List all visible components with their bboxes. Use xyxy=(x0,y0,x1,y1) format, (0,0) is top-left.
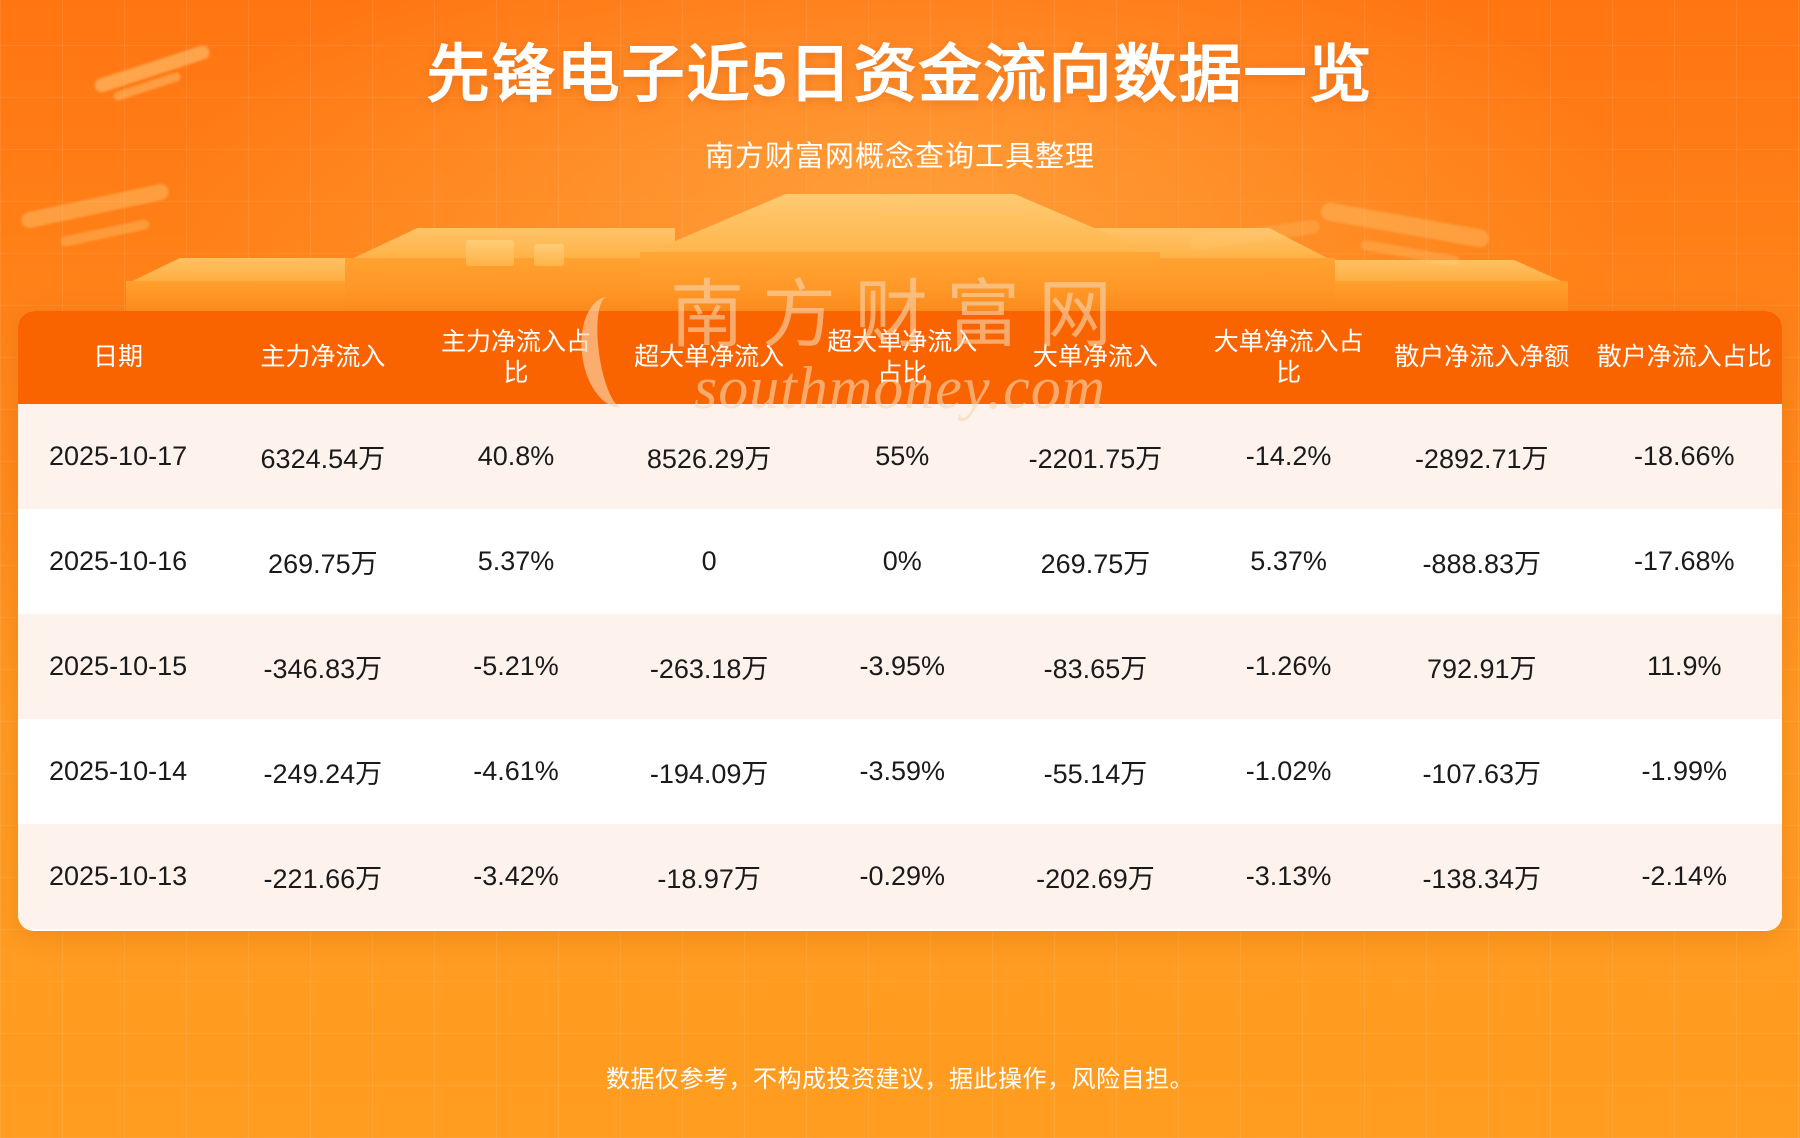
podium-graphic xyxy=(0,186,1800,316)
cell-xl-net-inflow: -194.09万 xyxy=(604,719,813,824)
column-header-xl-net-inflow[interactable]: 超大单净流入 xyxy=(604,311,813,404)
cell-date: 2025-10-16 xyxy=(18,509,218,614)
cell-main-net-inflow: -221.66万 xyxy=(218,824,427,929)
cell-date: 2025-10-14 xyxy=(18,719,218,824)
page-subtitle: 南方财富网概念查询工具整理 xyxy=(0,133,1800,175)
table-header-row: 日期 主力净流入 主力净流入占比 超大单净流入 超大单净流入占比 大单净流入 大… xyxy=(18,311,1782,404)
cell-xl-net-inflow-pct: -0.29% xyxy=(814,824,991,929)
page-title: 先锋电子近5日资金流向数据一览 xyxy=(0,40,1800,111)
cell-main-net-inflow-pct: -5.21% xyxy=(428,614,605,719)
column-header-retail-net-pct[interactable]: 散户净流入占比 xyxy=(1586,311,1782,404)
cell-retail-net-pct: -17.68% xyxy=(1586,509,1782,614)
column-header-lg-net-inflow-pct[interactable]: 大单净流入占比 xyxy=(1200,311,1377,404)
cell-lg-net-inflow-pct: -1.02% xyxy=(1200,719,1377,824)
cell-main-net-inflow-pct: 40.8% xyxy=(428,404,605,509)
column-header-retail-net-amount[interactable]: 散户净流入净额 xyxy=(1377,311,1586,404)
cell-retail-net-amount: 792.91万 xyxy=(1377,614,1586,719)
podium-nub-b xyxy=(534,244,564,266)
cell-lg-net-inflow-pct: -14.2% xyxy=(1200,404,1377,509)
podium-block-center xyxy=(640,194,1160,316)
table-row: 2025-10-16 269.75万 5.37% 0 0% 269.75万 5.… xyxy=(18,509,1782,614)
table-row: 2025-10-14 -249.24万 -4.61% -194.09万 -3.5… xyxy=(18,719,1782,824)
cell-retail-net-amount: -138.34万 xyxy=(1377,824,1586,929)
cell-retail-net-pct: 11.9% xyxy=(1586,614,1782,719)
column-header-main-net-inflow-pct[interactable]: 主力净流入占比 xyxy=(428,311,605,404)
column-header-lg-net-inflow[interactable]: 大单净流入 xyxy=(991,311,1200,404)
cell-xl-net-inflow: -18.97万 xyxy=(604,824,813,929)
table-row: 2025-10-17 6324.54万 40.8% 8526.29万 55% -… xyxy=(18,404,1782,509)
cell-xl-net-inflow-pct: -3.95% xyxy=(814,614,991,719)
table-body: 2025-10-17 6324.54万 40.8% 8526.29万 55% -… xyxy=(18,404,1782,929)
cell-date: 2025-10-15 xyxy=(18,614,218,719)
cell-main-net-inflow-pct: -4.61% xyxy=(428,719,605,824)
cell-date: 2025-10-17 xyxy=(18,404,218,509)
cell-retail-net-amount: -107.63万 xyxy=(1377,719,1586,824)
column-header-xl-net-inflow-pct[interactable]: 超大单净流入占比 xyxy=(814,311,991,404)
cell-lg-net-inflow-pct: 5.37% xyxy=(1200,509,1377,614)
column-header-main-net-inflow[interactable]: 主力净流入 xyxy=(218,311,427,404)
cell-xl-net-inflow: -263.18万 xyxy=(604,614,813,719)
table-row: 2025-10-15 -346.83万 -5.21% -263.18万 -3.9… xyxy=(18,614,1782,719)
cell-date: 2025-10-13 xyxy=(18,824,218,929)
podium-nub-a xyxy=(466,240,514,266)
cell-lg-net-inflow: -83.65万 xyxy=(991,614,1200,719)
cell-main-net-inflow: 269.75万 xyxy=(218,509,427,614)
cell-xl-net-inflow-pct: 55% xyxy=(814,404,991,509)
cell-main-net-inflow: -249.24万 xyxy=(218,719,427,824)
cell-lg-net-inflow: 269.75万 xyxy=(991,509,1200,614)
cell-xl-net-inflow-pct: -3.59% xyxy=(814,719,991,824)
column-header-date[interactable]: 日期 xyxy=(18,311,218,404)
cell-lg-net-inflow: -2201.75万 xyxy=(991,404,1200,509)
cell-xl-net-inflow: 8526.29万 xyxy=(604,404,813,509)
header-block: 先锋电子近5日资金流向数据一览 南方财富网概念查询工具整理 xyxy=(0,0,1800,175)
cell-main-net-inflow-pct: -3.42% xyxy=(428,824,605,929)
data-table-card: 日期 主力净流入 主力净流入占比 超大单净流入 超大单净流入占比 大单净流入 大… xyxy=(18,311,1782,931)
cell-lg-net-inflow: -202.69万 xyxy=(991,824,1200,929)
cell-xl-net-inflow-pct: 0% xyxy=(814,509,991,614)
cell-lg-net-inflow: -55.14万 xyxy=(991,719,1200,824)
cell-retail-net-pct: -18.66% xyxy=(1586,404,1782,509)
cell-lg-net-inflow-pct: -3.13% xyxy=(1200,824,1377,929)
cell-retail-net-amount: -888.83万 xyxy=(1377,509,1586,614)
cell-lg-net-inflow-pct: -1.26% xyxy=(1200,614,1377,719)
footer-disclaimer: 数据仅参考，不构成投资建议，据此操作，风险自担。 xyxy=(0,1059,1800,1094)
cell-retail-net-pct: -2.14% xyxy=(1586,824,1782,929)
cell-retail-net-amount: -2892.71万 xyxy=(1377,404,1586,509)
cell-retail-net-pct: -1.99% xyxy=(1586,719,1782,824)
cell-main-net-inflow: -346.83万 xyxy=(218,614,427,719)
cell-main-net-inflow-pct: 5.37% xyxy=(428,509,605,614)
cell-main-net-inflow: 6324.54万 xyxy=(218,404,427,509)
cell-xl-net-inflow: 0 xyxy=(604,509,813,614)
table-row: 2025-10-13 -221.66万 -3.42% -18.97万 -0.29… xyxy=(18,824,1782,929)
fund-flow-table: 日期 主力净流入 主力净流入占比 超大单净流入 超大单净流入占比 大单净流入 大… xyxy=(18,311,1782,929)
